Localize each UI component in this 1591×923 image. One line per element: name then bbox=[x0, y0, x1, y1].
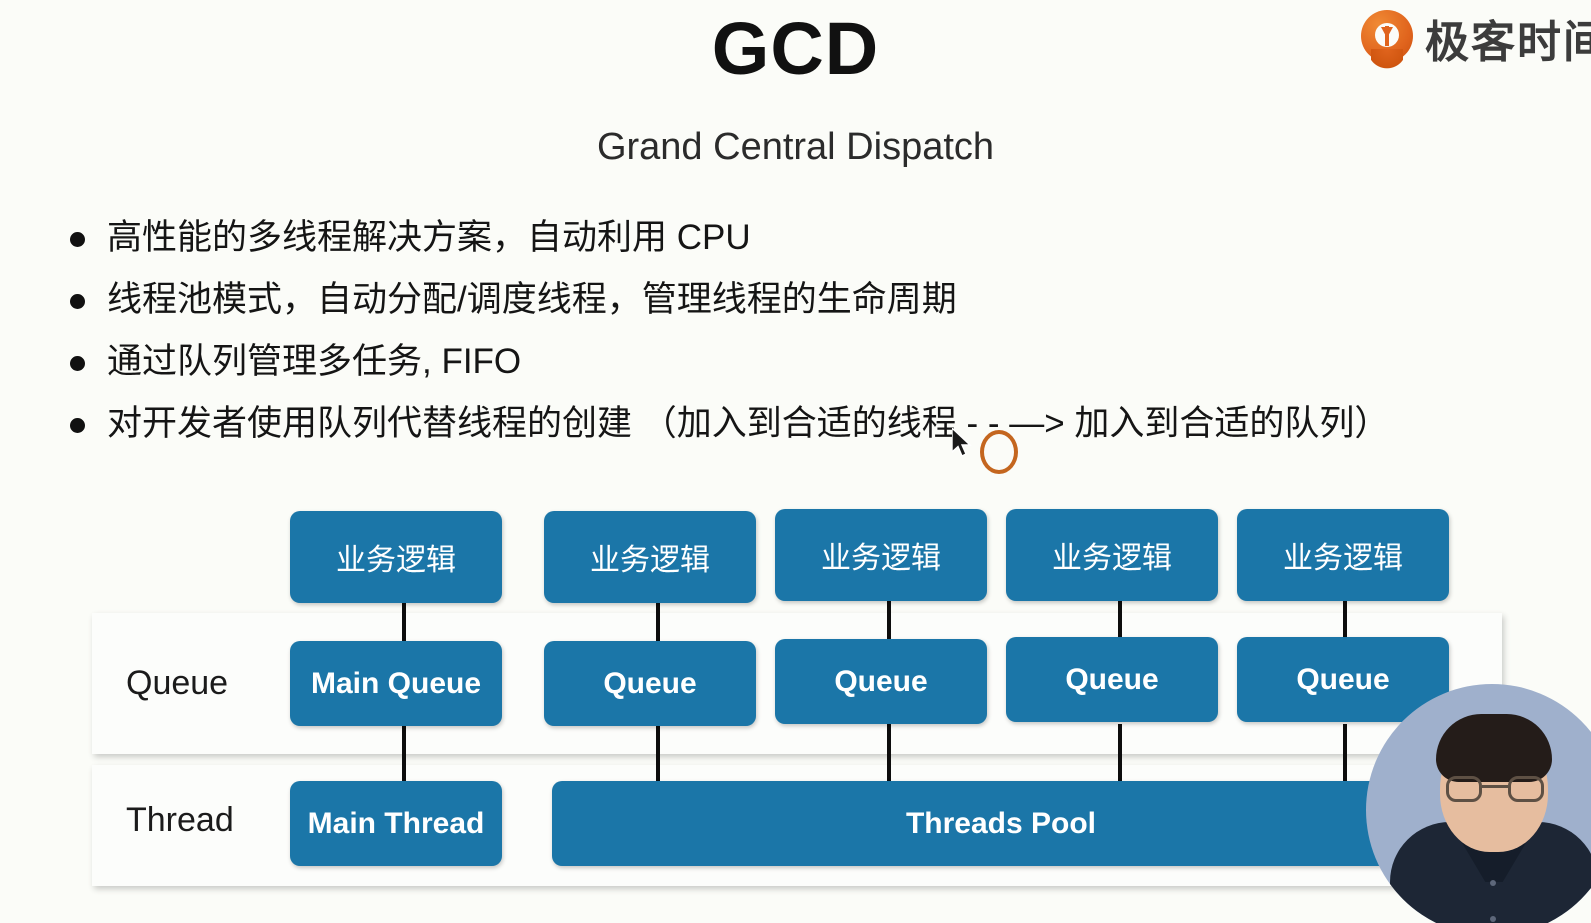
presentation-slide: GCD Grand Central Dispatch 极客时间 高性能的多线程解… bbox=[0, 0, 1591, 923]
thread-node-main[interactable]: Main Thread bbox=[290, 781, 502, 866]
connector-queue-thread-4 bbox=[1118, 724, 1122, 786]
presenter-shirt-button bbox=[1490, 880, 1496, 886]
glasses-icon bbox=[1446, 776, 1544, 802]
logic-node-2[interactable]: 业务逻辑 bbox=[544, 511, 756, 603]
queue-row-label: Queue bbox=[126, 666, 228, 700]
connector-queue-thread-5 bbox=[1343, 724, 1347, 786]
queue-node-4[interactable]: Queue bbox=[1006, 637, 1218, 722]
logic-node-5[interactable]: 业务逻辑 bbox=[1237, 509, 1449, 601]
logic-node-3[interactable]: 业务逻辑 bbox=[775, 509, 987, 601]
thread-node-pool[interactable]: Threads Pool bbox=[552, 781, 1450, 866]
queue-node-2[interactable]: Queue bbox=[544, 641, 756, 726]
connector-queue-thread-3 bbox=[887, 724, 891, 786]
queue-node-main[interactable]: Main Queue bbox=[290, 641, 502, 726]
queue-node-3[interactable]: Queue bbox=[775, 639, 987, 724]
presenter-shirt-button bbox=[1490, 916, 1496, 922]
presenter-hair bbox=[1436, 714, 1552, 782]
connector-queue-thread-2 bbox=[656, 724, 660, 786]
thread-row-label: Thread bbox=[126, 803, 234, 837]
gcd-architecture-diagram: 业务逻辑 业务逻辑 业务逻辑 业务逻辑 业务逻辑 Queue Main Queu… bbox=[0, 0, 1591, 923]
logic-node-1[interactable]: 业务逻辑 bbox=[290, 511, 502, 603]
logic-node-4[interactable]: 业务逻辑 bbox=[1006, 509, 1218, 601]
connector-queue-thread-1 bbox=[402, 724, 406, 786]
